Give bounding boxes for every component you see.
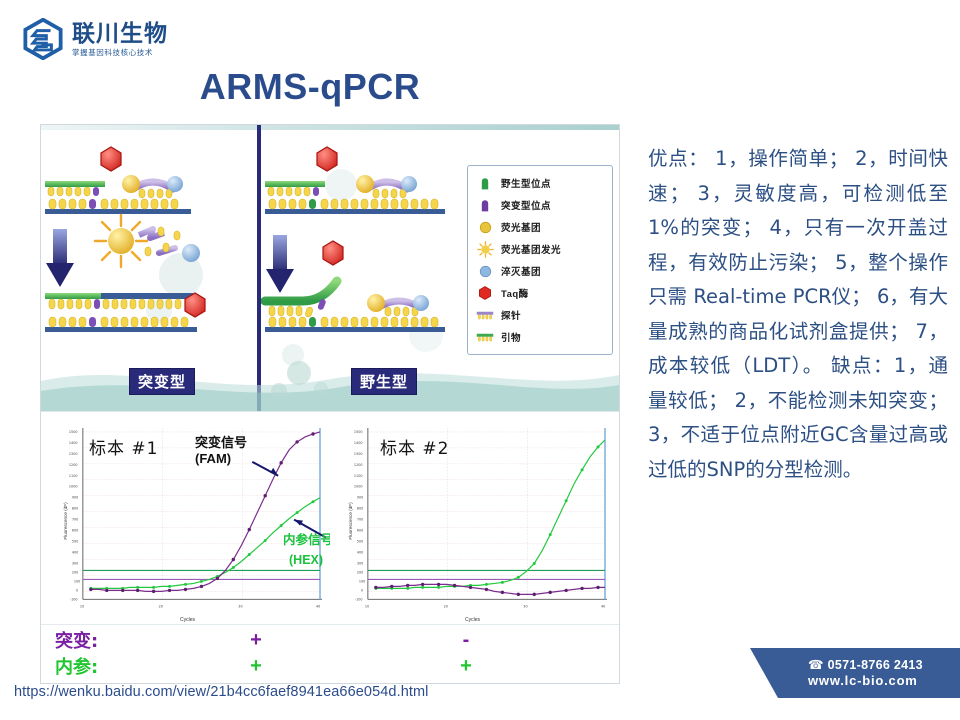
chart-sample-2: 150014001300 120011001000 900800700 6005… bbox=[330, 418, 615, 624]
legend-label: 淬灭基团 bbox=[501, 264, 541, 278]
wildtype-site-icon bbox=[476, 174, 494, 192]
legend-label: Taq酶 bbox=[501, 286, 529, 300]
contact-phone: 0571-8766 2413 bbox=[828, 658, 923, 672]
chart-1-xlabel: Cycles bbox=[45, 617, 330, 623]
svg-text:400: 400 bbox=[357, 551, 363, 555]
result-reference-sample1: + bbox=[151, 655, 361, 678]
probe-icon bbox=[476, 306, 494, 324]
fluorophore-icon bbox=[476, 218, 494, 236]
chart-1-title: 标本 #1 bbox=[89, 434, 158, 459]
legend-item: 引物 bbox=[476, 326, 608, 348]
legend-label: 荧光基团 bbox=[501, 220, 541, 234]
process-arrow-icon bbox=[46, 229, 74, 287]
svg-text:40: 40 bbox=[316, 604, 320, 608]
diagram-legend: 野生型位点 突变型位点 荧光基团 bbox=[467, 165, 613, 355]
hex-annotation-sub: (HEX) bbox=[289, 554, 323, 567]
svg-text:500: 500 bbox=[357, 540, 363, 544]
wildtype-type-label: 野生型 bbox=[351, 368, 417, 395]
svg-text:600: 600 bbox=[72, 529, 78, 533]
svg-text:1300: 1300 bbox=[69, 452, 78, 456]
legend-item: 荧光基团 bbox=[476, 216, 608, 238]
legend-item: 淬灭基团 bbox=[476, 260, 608, 282]
svg-text:1200: 1200 bbox=[69, 463, 78, 467]
description-text: 优点： 1，操作简单； 2，时间快速； 3，灵敏度高，可检测低至1%的突变； 4… bbox=[648, 142, 948, 487]
svg-text:20: 20 bbox=[444, 604, 448, 608]
fluorescence-emit-icon bbox=[95, 215, 147, 267]
svg-text:-100: -100 bbox=[355, 597, 363, 601]
fluorescence-emit-icon bbox=[476, 240, 494, 258]
amplification-charts: 150014001300 120011001000 900800700 6005… bbox=[41, 412, 619, 624]
page-title: ARMS-qPCR bbox=[0, 66, 620, 108]
svg-text:1400: 1400 bbox=[354, 441, 363, 445]
phone-icon: ☎ bbox=[808, 658, 824, 672]
svg-text:1300: 1300 bbox=[354, 452, 363, 456]
svg-text:900: 900 bbox=[357, 496, 363, 500]
mutant-site-icon bbox=[476, 196, 494, 214]
figure-container: 野生型位点 突变型位点 荧光基团 bbox=[40, 124, 620, 684]
svg-text:40: 40 bbox=[601, 604, 605, 608]
taq-enzyme-icon bbox=[476, 284, 494, 302]
brand-name: 联川生物 bbox=[72, 22, 168, 45]
chart-sample-1: 150014001300 120011001000 900800700 6005… bbox=[45, 418, 330, 624]
svg-text:30: 30 bbox=[523, 604, 527, 608]
wave-decoration bbox=[41, 355, 619, 411]
svg-text:1000: 1000 bbox=[69, 485, 78, 489]
fam-annotation-label: 突变信号 bbox=[195, 436, 247, 450]
svg-text:100: 100 bbox=[359, 579, 365, 583]
svg-text:700: 700 bbox=[357, 518, 363, 522]
svg-text:500: 500 bbox=[72, 540, 78, 544]
chart-2-title: 标本 #2 bbox=[380, 434, 449, 459]
brand-tagline: 掌握基因科技核心技术 bbox=[72, 49, 168, 57]
svg-text:1400: 1400 bbox=[69, 441, 78, 445]
mechanism-diagram: 野生型位点 突变型位点 荧光基团 bbox=[41, 125, 619, 412]
primer-icon bbox=[476, 328, 494, 346]
svg-text:300: 300 bbox=[72, 561, 78, 565]
legend-item: 突变型位点 bbox=[476, 194, 608, 216]
svg-text:1500: 1500 bbox=[354, 430, 363, 434]
result-label-reference: 内参: bbox=[55, 653, 151, 679]
svg-text:400: 400 bbox=[72, 551, 78, 555]
legend-item: 荧光基团发光 bbox=[476, 238, 608, 260]
chart-2-canvas: 150014001300 120011001000 900800700 6005… bbox=[330, 418, 615, 623]
result-reference-sample2: + bbox=[361, 655, 571, 678]
svg-text:0: 0 bbox=[76, 588, 78, 592]
svg-text:20: 20 bbox=[159, 604, 163, 608]
result-mutation-sample2: - bbox=[361, 629, 571, 652]
svg-text:800: 800 bbox=[357, 507, 363, 511]
mutant-type-label: 突变型 bbox=[129, 368, 195, 395]
legend-label: 突变型位点 bbox=[501, 198, 551, 212]
svg-text:-100: -100 bbox=[70, 597, 78, 601]
svg-text:200: 200 bbox=[72, 570, 78, 574]
svg-text:100: 100 bbox=[74, 579, 80, 583]
legend-label: 探针 bbox=[501, 308, 521, 322]
quencher-icon bbox=[476, 262, 494, 280]
legend-item: 野生型位点 bbox=[476, 172, 608, 194]
result-row-mutation: 突变: + - bbox=[55, 627, 619, 653]
fam-annotation-sub: (FAM) bbox=[195, 452, 231, 466]
svg-text:0: 0 bbox=[361, 588, 363, 592]
svg-text:700: 700 bbox=[72, 518, 78, 522]
svg-text:1100: 1100 bbox=[354, 474, 363, 478]
source-url[interactable]: https://wenku.baidu.com/view/21b4cc6faef… bbox=[14, 684, 429, 700]
legend-item: Taq酶 bbox=[476, 282, 608, 304]
svg-text:1000: 1000 bbox=[354, 485, 363, 489]
chart-2-ylabel: Fluorescence (dF) bbox=[348, 502, 353, 539]
taq-enzyme-icon bbox=[101, 147, 121, 171]
chart-1-ylabel: Fluorescence (dF) bbox=[63, 502, 68, 539]
legend-label: 荧光基团发光 bbox=[501, 242, 561, 256]
chart-1-canvas: 150014001300 120011001000 900800700 6005… bbox=[45, 418, 330, 623]
contact-website[interactable]: www.lc-bio.com bbox=[808, 673, 923, 689]
result-row-reference: 内参: + + bbox=[55, 653, 619, 679]
contact-ribbon: ☎ 0571-8766 2413 www.lc-bio.com bbox=[750, 648, 960, 698]
contact-phone-line: ☎ 0571-8766 2413 bbox=[808, 657, 923, 673]
fluorophore-icon bbox=[122, 175, 140, 193]
result-label-mutation: 突变: bbox=[55, 627, 151, 653]
quencher-icon bbox=[167, 176, 183, 192]
process-arrow-icon bbox=[266, 235, 294, 293]
svg-text:800: 800 bbox=[72, 507, 78, 511]
svg-text:900: 900 bbox=[72, 496, 78, 500]
svg-text:200: 200 bbox=[357, 570, 363, 574]
svg-text:1100: 1100 bbox=[69, 474, 78, 478]
svg-text:300: 300 bbox=[357, 561, 363, 565]
svg-text:1500: 1500 bbox=[69, 430, 78, 434]
chart-2-xlabel: Cycles bbox=[330, 617, 615, 623]
legend-item: 探针 bbox=[476, 304, 608, 326]
svg-text:1200: 1200 bbox=[354, 463, 363, 467]
svg-text:10: 10 bbox=[80, 604, 84, 608]
svg-text:600: 600 bbox=[357, 529, 363, 533]
hexagon-logo-icon bbox=[22, 18, 64, 60]
svg-text:10: 10 bbox=[365, 604, 369, 608]
legend-label: 引物 bbox=[501, 330, 521, 344]
result-mutation-sample1: + bbox=[151, 629, 361, 652]
hex-annotation-label: 内参信号 bbox=[283, 534, 333, 547]
svg-text:30: 30 bbox=[238, 604, 242, 608]
legend-label: 野生型位点 bbox=[501, 176, 551, 190]
brand-logo: 联川生物 掌握基因科技核心技术 bbox=[22, 18, 168, 60]
results-summary: 突变: + - 内参: + + bbox=[41, 624, 619, 683]
